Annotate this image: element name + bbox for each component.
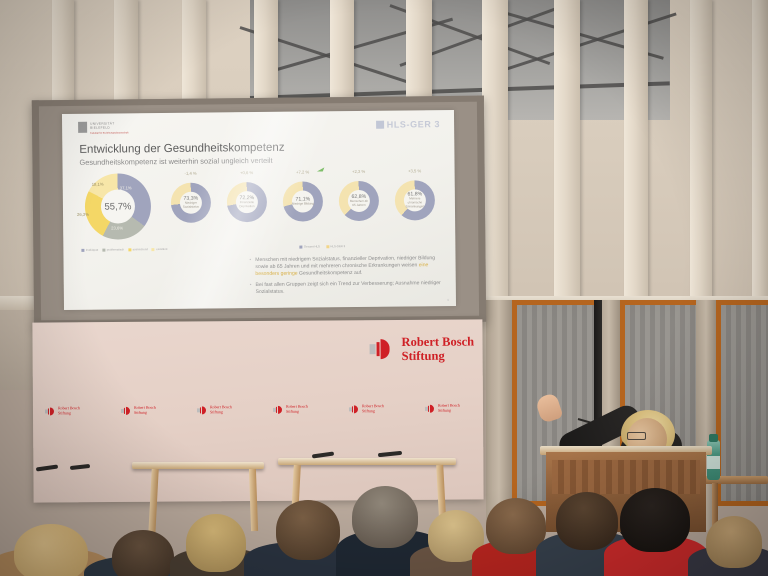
bosch-logo-main: Robert Bosch Stiftung <box>369 334 474 363</box>
donut-label-ausreichend: 26,3% <box>77 212 89 217</box>
hls-ger-logo: HLS-GER 3 <box>376 119 441 130</box>
slide-subtitle: Gesundheitskompetenz ist weiterhin sozia… <box>79 156 272 167</box>
hls-mark-icon <box>376 121 384 129</box>
bosch-logo-small: Robert BoschStiftung <box>121 406 156 415</box>
donut-label-exzellent: 18,1% <box>92 182 104 187</box>
mini-caption-1: Finanzielle Deprivation <box>236 200 258 208</box>
bullet-text-pre: Bei fast allen Gruppen zeigt sich ein Tr… <box>256 280 441 295</box>
legend-item: inadäquat <box>81 248 98 252</box>
bullet-dot-icon: • <box>250 282 252 296</box>
bullet-item: • Menschen mit niedrigem Sozialstatus, f… <box>249 255 445 278</box>
presentation-slide: UNIVERSITÄT BIELEFELD Fakultät für Erzie… <box>62 110 456 310</box>
mini-caption-3: Menschen ab 65 Jahren <box>348 199 370 207</box>
conference-photo: UNIVERSITÄT BIELEFELD Fakultät für Erzie… <box>0 0 768 576</box>
mini-caption-0: Niedriger Sozialstatus <box>180 201 202 209</box>
projection-screen: UNIVERSITÄT BIELEFELD Fakultät für Erzie… <box>32 96 486 327</box>
stone-column <box>486 300 512 530</box>
bielefeld-line2: BIELEFELD <box>90 125 128 129</box>
legend-item: exzellent <box>152 247 168 251</box>
audience-head <box>14 524 88 576</box>
bielefeld-logo: UNIVERSITÄT BIELEFELD Fakultät für Erzie… <box>78 121 128 134</box>
speaker-glasses <box>627 432 646 440</box>
bosch-brand-line2: Stiftung <box>402 348 475 363</box>
panel-table-right <box>278 458 456 465</box>
mini-ring-0: -1,4 % 73,3% Niedriger Sozialstatus <box>169 182 213 222</box>
bosch-logo-small: Robert BoschStiftung <box>197 405 232 414</box>
bullet-dot-icon: • <box>249 257 251 278</box>
mini-ring-1: +0,6 % 72,2% Finanzielle Deprivation <box>225 182 269 222</box>
bullet-text-pre: Menschen mit niedrigem Sozialstatus, fin… <box>255 255 435 270</box>
audience-head <box>352 486 418 548</box>
audience-head <box>186 514 246 572</box>
bosch-mark-icon <box>121 406 131 414</box>
legend-item: ausreichend <box>128 247 148 251</box>
bosch-mark-icon <box>370 339 396 359</box>
hls-ger-label: HLS-GER 3 <box>387 119 441 130</box>
mini-delta-1: +0,6 % <box>225 170 269 175</box>
legend-item: problematisch <box>102 247 124 251</box>
mini-ring-4: +3,5 % 61,8% Mehrere chronische Erkranku… <box>393 180 437 220</box>
slide-page-number: 9 <box>447 298 449 302</box>
donut-label-problematisch: 23,6% <box>111 225 123 230</box>
ring-legend-item: HLS-GER 3 <box>326 244 345 248</box>
slide-title: Entwicklung der Gesundheitskompetenz <box>79 142 284 156</box>
bosch-logo-small: Robert BoschStiftung <box>425 404 460 413</box>
bosch-logo-small: Robert BoschStiftung <box>349 404 384 413</box>
trend-arrow-icon <box>317 167 326 172</box>
robert-bosch-backdrop: Robert Bosch Stiftung Robert BoschStiftu… <box>32 319 483 502</box>
bosch-mark-icon <box>349 405 359 413</box>
bosch-mark-icon <box>425 404 435 412</box>
audience-head <box>276 500 340 560</box>
bosch-logo-small: Robert BoschStiftung <box>273 405 308 414</box>
ring-legend-item: Gesamt HLS <box>299 244 320 248</box>
donut-center-value: 55,7% <box>101 189 135 223</box>
mini-caption-4: Mehrere chronische Erkrankungen <box>404 196 426 209</box>
audience-head <box>112 530 174 576</box>
bielefeld-mark-icon <box>78 122 87 133</box>
mini-delta-3: +2,3 % <box>337 169 381 174</box>
ring-legend: Gesamt HLS HLS-GER 3 <box>299 244 345 248</box>
bottle-label <box>707 456 720 469</box>
bosch-mark-icon <box>197 406 207 414</box>
charts-row: 55,7% 37,1% 23,6% 26,3% 18,1% inadäquat … <box>77 168 446 244</box>
donut-label-inadaequat: 37,1% <box>120 185 132 190</box>
audience-head <box>706 516 762 568</box>
bielefeld-sub: Fakultät für Erziehungswissenschaft <box>90 131 128 134</box>
bosch-mark-icon <box>273 405 283 413</box>
audience-head <box>556 492 618 550</box>
bullet-text-post: Gesundheitskompetenz auf. <box>298 270 363 277</box>
bosch-logo-small: Robert BoschStiftung <box>45 406 80 415</box>
audience-head <box>620 488 690 552</box>
bullet-item: • Bei fast allen Gruppen zeigt sich ein … <box>250 280 446 296</box>
bosch-mark-icon <box>45 407 55 415</box>
mini-ring-2: +7,2 % 71,1% Niedrige Bildung <box>281 181 325 221</box>
mini-ring-3: +2,3 % 62,8% Menschen ab 65 Jahren <box>337 181 381 221</box>
mini-caption-2: Niedrige Bildung <box>292 201 314 205</box>
mini-delta-4: +3,5 % <box>393 168 437 173</box>
mini-delta-0: -1,4 % <box>169 170 213 175</box>
bottle-cap <box>709 434 718 442</box>
donut-legend: inadäquat problematisch ausreichend exze… <box>81 247 167 252</box>
slide-bullets: • Menschen mit niedrigem Sozialstatus, f… <box>249 255 445 300</box>
bosch-brand-line1: Robert Bosch <box>401 334 474 349</box>
